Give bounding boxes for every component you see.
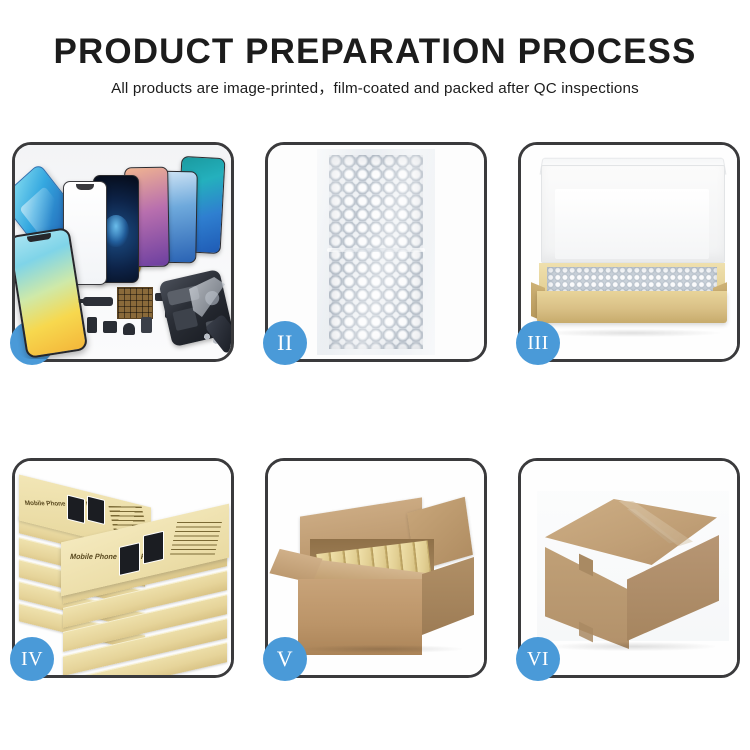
step-panel-6[interactable]: VI	[518, 458, 740, 678]
drop-shadow	[543, 329, 721, 337]
step-panel-4[interactable]: Mobile Phone Spare Parts Mobile Phone Sp…	[12, 458, 234, 678]
step-panel-2[interactable]: II	[265, 142, 487, 362]
bubble-wrap-fold	[327, 248, 425, 252]
part-small-2	[103, 321, 117, 333]
box-spec-list-front	[170, 522, 222, 555]
part-screw-grid	[117, 287, 153, 319]
part-small-4	[141, 317, 152, 333]
box-lid-inner	[555, 189, 709, 259]
part-small-3	[123, 323, 135, 335]
page-title: PRODUCT PREPARATION PROCESS	[0, 34, 750, 69]
bubble-wrap-pouch	[317, 149, 435, 355]
box-print-screen-3	[119, 542, 140, 576]
step-panel-5[interactable]: V	[265, 458, 487, 678]
carton-front-face	[298, 579, 422, 655]
step-badge-2: II	[263, 321, 307, 365]
step-1-image	[15, 145, 231, 359]
step-badge-5: V	[263, 637, 307, 681]
step-panel-1[interactable]: I	[12, 142, 234, 362]
box-print-screen-2	[87, 495, 105, 524]
box-print-screen-1	[67, 495, 85, 524]
box-print-screen-4	[143, 531, 164, 565]
drop-shadow	[551, 642, 715, 651]
page-header: PRODUCT PREPARATION PROCESS All products…	[0, 0, 750, 96]
bubble-wrap-contents	[547, 267, 717, 293]
drop-shadow	[302, 645, 462, 653]
part-flex-cable-1	[83, 297, 113, 306]
process-steps-grid: I II III	[12, 142, 740, 678]
step-badge-4: IV	[10, 637, 54, 681]
bubble-wrap-bubbles	[329, 155, 423, 349]
kraft-tray-front	[537, 291, 727, 323]
step-badge-6: VI	[516, 637, 560, 681]
step-badge-3: III	[516, 321, 560, 365]
part-small-1	[87, 317, 97, 333]
step-panel-3[interactable]: III	[518, 142, 740, 362]
page-subtitle: All products are image-printed，film-coat…	[0, 81, 750, 96]
